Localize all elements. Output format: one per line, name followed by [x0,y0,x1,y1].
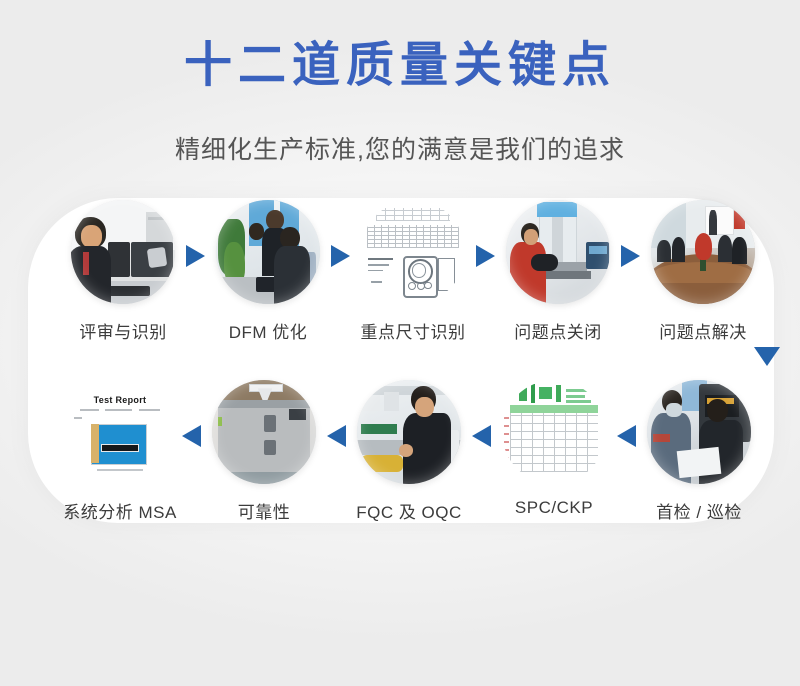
page-subtitle: 精细化生产标准,您的满意是我们的追求 [0,130,800,166]
flow-step-issue-resolve[interactable]: 问题点解决 [640,200,766,350]
flow-step-fqc-oqc[interactable]: FQC 及 OQC [346,380,472,530]
flow-row-2: Test Report 系统分析 MSA [0,380,800,530]
flow-step-msa[interactable]: Test Report 系统分析 MSA [57,380,183,530]
flow-step-dfm[interactable]: DFM 优化 [205,200,331,350]
flow-step-key-dimension[interactable]: 重点尺寸识别 [350,200,476,350]
engineer-at-computer-photo [71,200,175,304]
arrow-left-icon-4 [617,425,636,447]
arrow-left-icon-2 [327,425,346,447]
flow-step-review[interactable]: 评审与识别 [60,200,186,350]
test-report-document-photo: Test Report [68,380,172,484]
reliability-test-chamber-photo [212,380,316,484]
arrow-right-icon-3 [476,245,495,267]
meeting-room-photo [651,200,755,304]
flow-step-spc-ckp[interactable]: SPC/CKP [491,380,617,530]
final-inspection-photo [357,380,461,484]
flow-step-label: 重点尺寸识别 [350,318,476,343]
arrow-left-icon-1 [182,425,201,447]
arrow-right-icon-4 [621,245,640,267]
flow-step-label: 评审与识别 [60,318,186,343]
flow-step-label: FQC 及 OQC [346,498,472,523]
flow-step-first-patrol-inspection[interactable]: 首检 / 巡检 [636,380,762,530]
spc-control-chart-photo [502,380,606,484]
flow-step-label: 问题点解决 [640,318,766,343]
flow-step-label: DFM 优化 [205,318,331,343]
flow-step-label: 问题点关闭 [495,318,621,343]
arrow-left-icon-3 [472,425,491,447]
flow-step-label: 首检 / 巡检 [636,498,762,523]
team-at-computers-photo [216,200,320,304]
flow-step-issue-close[interactable]: 问题点关闭 [495,200,621,350]
flow-row-1: 评审与识别 DFM 优化 [0,200,800,350]
cnc-first-article-inspection-photo [647,380,751,484]
flow-step-label: SPC/CKP [491,498,617,518]
arrow-down-icon [754,347,780,366]
arrow-right-icon-2 [331,245,350,267]
page-title: 十二道质量关键点 [0,40,800,93]
page-root: 十二道质量关键点 精细化生产标准,您的满意是我们的追求 评审与识别 [0,0,800,686]
flow-step-reliability[interactable]: 可靠性 [201,380,327,530]
cad-drawing-photo [361,200,465,304]
cmm-measuring-machine-photo [506,200,610,304]
arrow-right-icon-1 [186,245,205,267]
flow-step-label: 系统分析 MSA [57,498,183,523]
flow-step-label: 可靠性 [201,498,327,523]
test-report-title: Test Report [91,395,149,405]
